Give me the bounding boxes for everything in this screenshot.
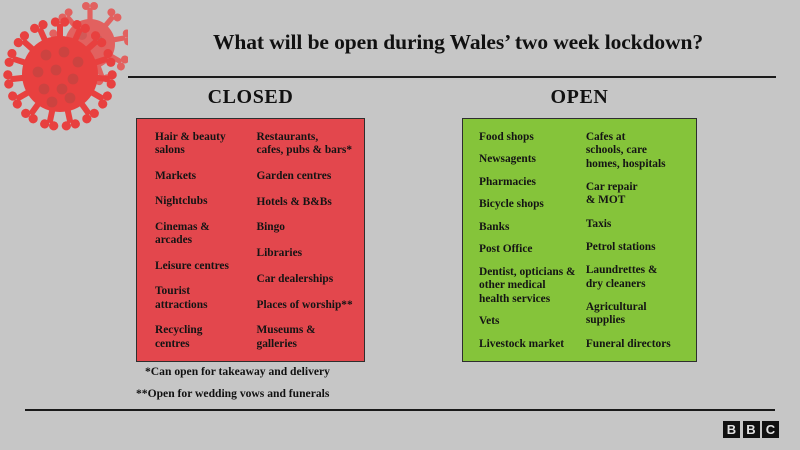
list-item: Restaurants, cafes, pubs & bars* — [257, 131, 361, 158]
open-panel: Food shops Newsagents Pharmacies Bicycle… — [462, 118, 697, 362]
list-item: Places of worship** — [257, 299, 361, 312]
list-item: Hair & beauty salons — [155, 131, 247, 158]
list-item: Vets — [479, 315, 580, 328]
list-item: Laundrettes & dry cleaners — [586, 264, 694, 291]
footnotes: *Can open for takeaway and delivery **Op… — [136, 366, 536, 409]
list-item: Bingo — [257, 221, 361, 234]
list-item: Hotels & B&Bs — [257, 196, 361, 209]
open-column-left: Food shops Newsagents Pharmacies Bicycle… — [463, 131, 582, 351]
list-item: Nightclubs — [155, 195, 247, 208]
list-item: Museums & galleries — [257, 324, 361, 351]
list-item: Pharmacies — [479, 176, 580, 189]
page-title: What will be open during Wales’ two week… — [138, 30, 778, 55]
list-item: Newsagents — [479, 153, 580, 166]
list-item: Recycling centres — [155, 324, 247, 351]
closed-column-right: Restaurants, cafes, pubs & bars* Garden … — [251, 131, 365, 351]
list-item: Dentist, opticians & other medical healt… — [479, 266, 580, 306]
list-item: Libraries — [257, 247, 361, 260]
list-item: Bicycle shops — [479, 198, 580, 211]
list-item: Leisure centres — [155, 260, 247, 273]
open-heading: OPEN — [462, 86, 697, 109]
list-item: Funeral directors — [586, 338, 694, 351]
list-item: Markets — [155, 170, 247, 183]
list-item: Petrol stations — [586, 241, 694, 254]
list-item: Car repair & MOT — [586, 181, 694, 208]
list-item: Cafes at schools, care homes, hospitals — [586, 131, 694, 171]
bbc-logo-letter: B — [743, 421, 760, 438]
list-item: Garden centres — [257, 170, 361, 183]
list-item: Banks — [479, 221, 580, 234]
divider-top — [128, 76, 776, 78]
list-item: Car dealerships — [257, 273, 361, 286]
list-item: Taxis — [586, 218, 694, 231]
open-column-right: Cafes at schools, care homes, hospitals … — [582, 131, 696, 351]
list-item: Food shops — [479, 131, 580, 144]
list-item: Livestock market — [479, 338, 580, 351]
list-item: Post Office — [479, 243, 580, 256]
coronavirus-icon — [2, 2, 128, 138]
infographic-canvas: What will be open during Wales’ two week… — [0, 0, 800, 450]
list-item: Cinemas & arcades — [155, 221, 247, 248]
closed-column-left: Hair & beauty salons Markets Nightclubs … — [137, 131, 251, 351]
list-item: Tourist attractions — [155, 285, 247, 312]
closed-panel: Hair & beauty salons Markets Nightclubs … — [136, 118, 365, 362]
footnote-single-asterisk: *Can open for takeaway and delivery — [136, 366, 536, 378]
bbc-logo-letter: C — [762, 421, 779, 438]
list-item: Agricultural supplies — [586, 301, 694, 328]
bbc-logo-letter: B — [723, 421, 740, 438]
footnote-double-asterisk: **Open for wedding vows and funerals — [136, 388, 536, 400]
closed-heading: CLOSED — [136, 86, 365, 109]
divider-bottom — [25, 409, 775, 411]
bbc-logo: B B C — [723, 421, 779, 438]
